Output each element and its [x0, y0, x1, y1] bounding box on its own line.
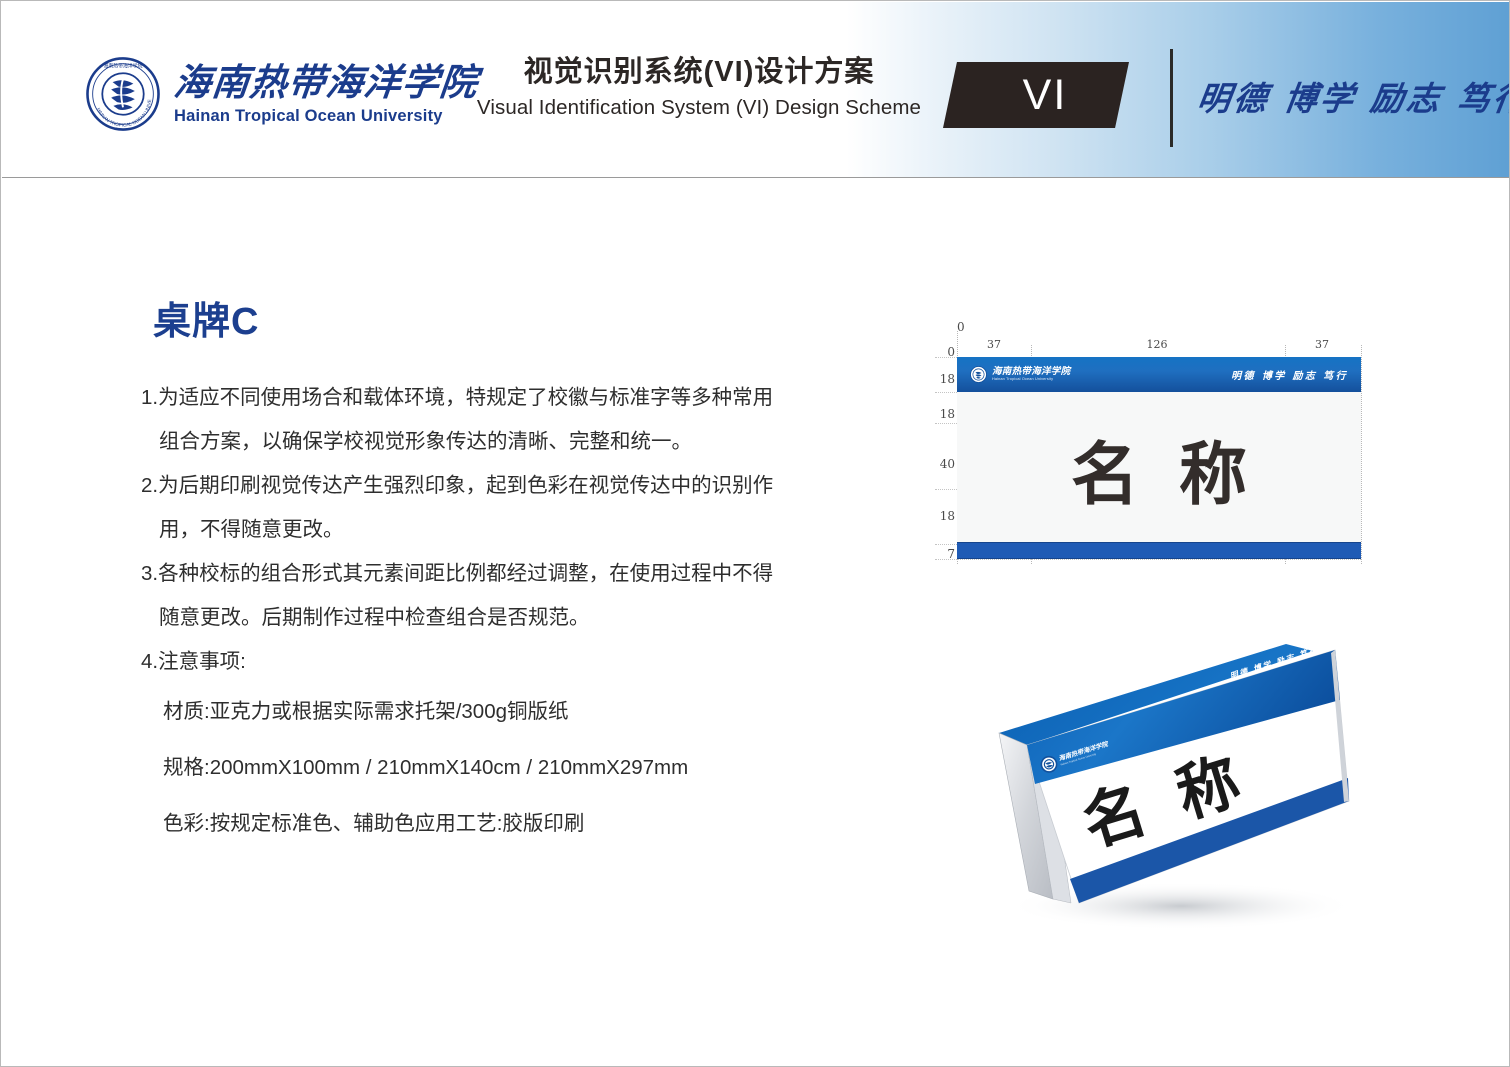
header-divider — [1170, 49, 1173, 147]
header-bottom-rule — [2, 177, 1510, 178]
paragraph-line: 4.注意事项: — [141, 640, 861, 684]
page-title-cn: 视觉识别系统(VI)设计方案 — [464, 54, 934, 90]
paragraph-3: 3.各种校标的组合形式其元素间距比例都经过调整，在使用过程中不得 随意更改。后期… — [141, 552, 861, 640]
paragraph-line: 组合方案，以确保学校视觉形象传达的清晰、完整和统一。 — [141, 420, 861, 464]
dimension-label: 18 — [937, 372, 955, 386]
card-body: 名称 — [957, 392, 1361, 544]
vi-badge-label: VI — [1005, 71, 1068, 120]
table-tent-mockup: 明德 博学 励志 笃行 海南热带海洋学院 Hainan Tropical Oce… — [931, 641, 1401, 941]
paragraph-line: 3.各种校标的组合形式其元素间距比例都经过调整，在使用过程中不得 — [141, 552, 861, 596]
card-banner-name-en: Hainan Tropical Ocean University — [992, 378, 1070, 382]
page-header: 海南热带海洋学院 HAINAN TROPICAL OCEAN UNIVERSIT… — [2, 2, 1510, 177]
paragraph-line: 随意更改。后期制作过程中检查组合是否规范。 — [141, 596, 861, 640]
logo-name-en: Hainan Tropical Ocean University — [174, 108, 478, 125]
card-banner-name-cn: 海南热带海洋学院 — [992, 367, 1070, 377]
card-banner: 海南热带海洋学院 Hainan Tropical Ocean Universit… — [957, 357, 1361, 392]
note-color: 色彩:按规定标准色、辅助色应用工艺:胶版印刷 — [141, 796, 861, 852]
dimension-labels-top: 37 126 37 — [957, 338, 1361, 358]
dimension-label: 18 — [937, 407, 955, 421]
tent-card-illustration: 明德 博学 励志 笃行 海南热带海洋学院 Hainan Tropical Oce… — [931, 641, 1401, 941]
university-seal-icon — [970, 366, 987, 383]
university-logo: 海南热带海洋学院 HAINAN TROPICAL OCEAN UNIVERSIT… — [86, 57, 478, 131]
logo-name-cn: 海南热带海洋学院 — [172, 64, 480, 101]
body-copy: 1.为适应不同使用场合和载体环境，特规定了校徽与标准字等多种常用 组合方案，以确… — [141, 376, 861, 852]
dimension-origin-label: 0 — [957, 320, 965, 334]
paragraph-1: 1.为适应不同使用场合和载体环境，特规定了校徽与标准字等多种常用 组合方案，以确… — [141, 376, 861, 464]
grid-line — [935, 559, 1361, 560]
card-name-text: 名称 — [1031, 419, 1287, 518]
vi-manual-page: 海南热带海洋学院 HAINAN TROPICAL OCEAN UNIVERSIT… — [0, 0, 1510, 1067]
university-seal-icon: 海南热带海洋学院 HAINAN TROPICAL OCEAN UNIVERSIT… — [86, 57, 160, 131]
university-motto: 明德 博学 励志 笃行 — [1195, 72, 1510, 120]
dimension-label: 126 — [1031, 338, 1283, 358]
dimension-label: 37 — [1283, 338, 1361, 358]
table-card-artwork: 海南热带海洋学院 Hainan Tropical Ocean Universit… — [957, 357, 1361, 559]
page-title-en: Visual Identification System (VI) Design… — [464, 96, 934, 120]
paragraph-line: 2.为后期印刷视觉传达产生强烈印象，起到色彩在视觉传达中的识别作 — [141, 464, 861, 508]
header-titles: 视觉识别系统(VI)设计方案 Visual Identification Sys… — [464, 54, 934, 120]
dimension-label: 18 — [937, 509, 955, 523]
grid-line — [1361, 345, 1362, 564]
note-material: 材质:亚克力或根据实际需求托架/300g铜版纸 — [141, 684, 861, 740]
technical-drawing: 0 37 126 37 0 18 18 40 18 7 — [929, 319, 1361, 564]
svg-text:海南热带海洋学院: 海南热带海洋学院 — [104, 62, 143, 69]
vi-badge: VI — [943, 62, 1129, 128]
card-bottom-stripe — [957, 542, 1361, 559]
page-title: 桌牌C — [153, 290, 259, 345]
paragraph-line: 1.为适应不同使用场合和载体环境，特规定了校徽与标准字等多种常用 — [141, 376, 861, 420]
dimension-label: 40 — [937, 457, 955, 471]
dimension-labels-left: 0 18 18 40 18 7 — [937, 357, 955, 559]
paragraph-line: 用，不得随意更改。 — [141, 508, 861, 552]
card-banner-motto: 明德 博学 励志 笃行 — [1231, 367, 1348, 382]
dimension-label: 37 — [957, 338, 1031, 358]
note-size: 规格:200mmX100mm / 210mmX140cm / 210mmX297… — [141, 740, 861, 796]
card-banner-logo: 海南热带海洋学院 Hainan Tropical Ocean Universit… — [970, 366, 1070, 383]
paragraph-2: 2.为后期印刷视觉传达产生强烈印象，起到色彩在视觉传达中的识别作 用，不得随意更… — [141, 464, 861, 552]
paragraph-4: 4.注意事项: — [141, 640, 861, 684]
